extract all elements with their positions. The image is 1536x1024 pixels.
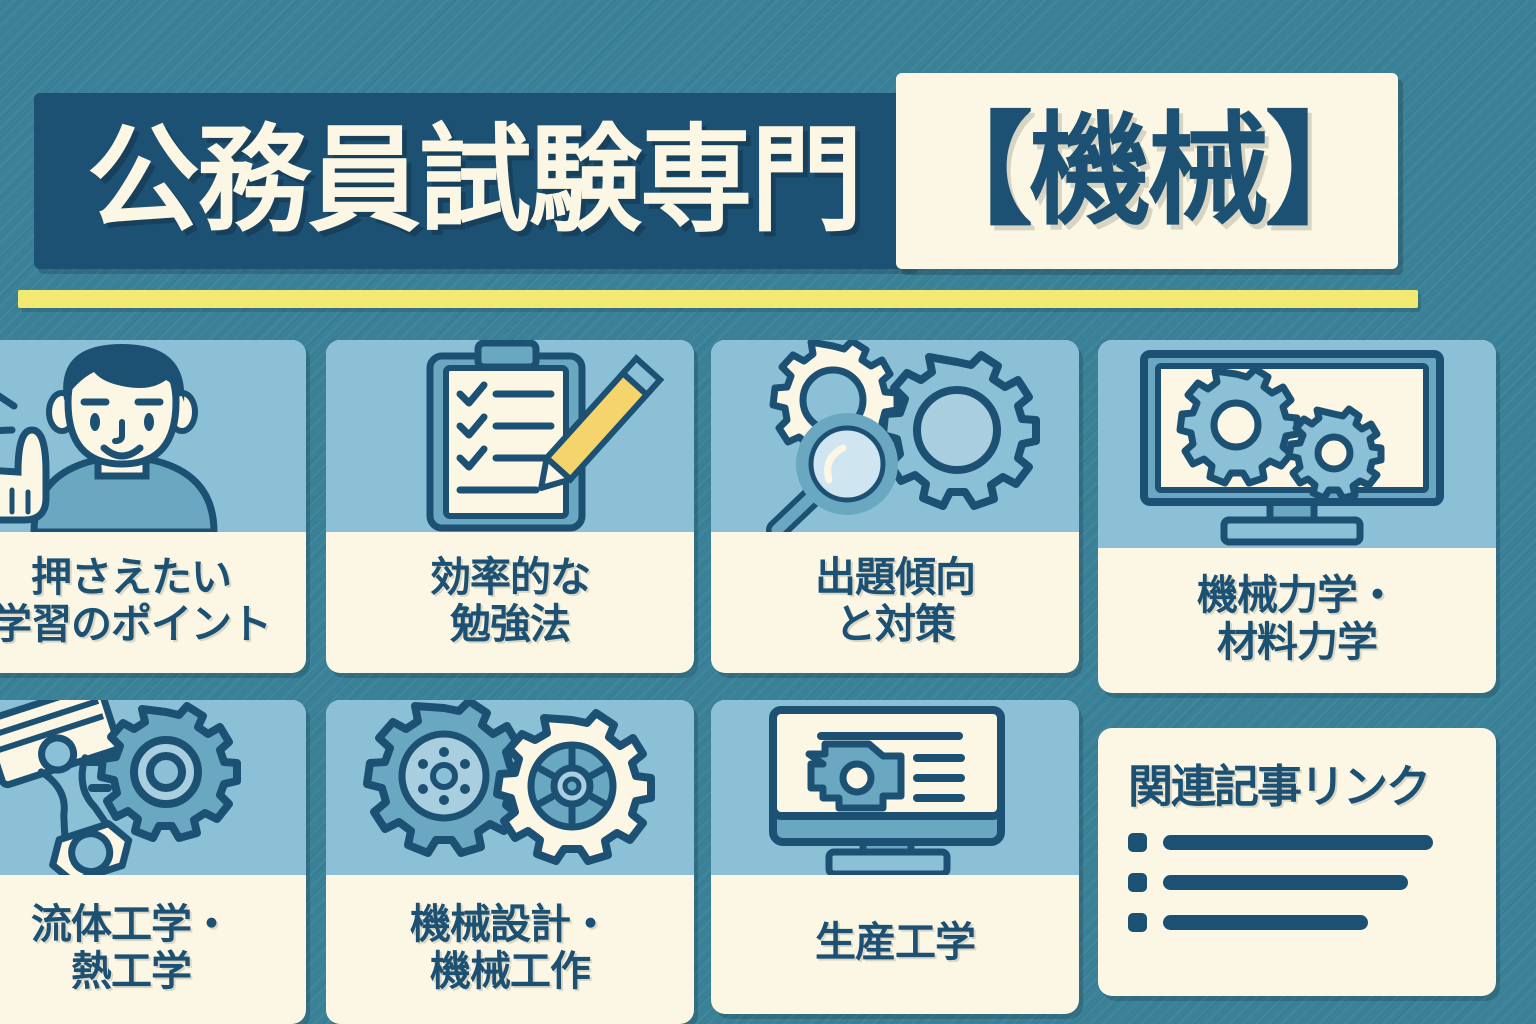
bullet-icon	[1128, 913, 1147, 932]
card-label-line: 勉強法	[450, 601, 570, 648]
card-study-method[interactable]: 効率的な 勉強法	[326, 340, 694, 673]
clipboard-checklist-pencil-icon	[326, 340, 694, 532]
card-label-line: 学習のポイント	[0, 601, 271, 648]
bullet-icon	[1128, 873, 1147, 892]
magnifier-gears-icon	[711, 340, 1079, 532]
card-study-points-label: 押さえたい 学習のポイント	[0, 532, 306, 673]
card-fluid-thermal[interactable]: 流体工学・ 熱工学	[0, 700, 306, 1024]
page-title-banner: 公務員試験専門	[34, 93, 914, 269]
page-title: 公務員試験専門	[87, 123, 861, 239]
accent-divider	[18, 290, 1418, 308]
card-exam-trends-label: 出題傾向 と対策	[711, 532, 1079, 673]
card-related-links[interactable]: 関連記事リンク	[1098, 728, 1496, 996]
list-item[interactable]	[1128, 873, 1470, 892]
card-label-line: 流体工学・	[31, 901, 231, 948]
card-mechanics-label: 機械力学・ 材料力学	[1098, 548, 1496, 693]
card-exam-trends[interactable]: 出題傾向 と対策	[711, 340, 1079, 673]
card-study-points[interactable]: 押さえたい 学習のポイント	[0, 340, 306, 673]
card-production-engineering[interactable]: 生産工学	[711, 700, 1079, 1014]
card-label-line: 押さえたい	[31, 554, 231, 601]
link-placeholder-bar	[1163, 835, 1433, 850]
card-fluid-thermal-label: 流体工学・ 熱工学	[0, 875, 306, 1024]
link-placeholder-bar	[1163, 915, 1368, 930]
card-production-engineering-label: 生産工学	[711, 875, 1079, 1014]
card-mechanics[interactable]: 機械力学・ 材料力学	[1098, 340, 1496, 693]
bullet-icon	[1128, 833, 1147, 852]
list-item[interactable]	[1128, 913, 1470, 932]
monitor-gears-icon	[1098, 340, 1496, 548]
card-study-method-label: 効率的な 勉強法	[326, 532, 694, 673]
monitor-cad-part-icon	[711, 700, 1079, 875]
card-label-line: 熱工学	[71, 948, 191, 995]
card-label-line: 材料力学	[1217, 619, 1377, 666]
two-gears-icon	[326, 700, 694, 875]
link-placeholder-bar	[1163, 875, 1408, 890]
subject-label: 【機械】	[911, 110, 1383, 232]
card-label-line: と対策	[835, 601, 955, 648]
pointing-person-icon	[0, 340, 306, 532]
piston-gear-icon	[0, 700, 306, 875]
list-item[interactable]	[1128, 833, 1470, 852]
card-label-line: 機械設計・	[410, 901, 610, 948]
card-label-line: 出題傾向	[815, 554, 975, 601]
card-machine-design[interactable]: 機械設計・ 機械工作	[326, 700, 694, 1024]
card-label-line: 機械工作	[430, 948, 590, 995]
card-label-line: 効率的な	[430, 554, 590, 601]
subject-badge: 【機械】	[896, 73, 1398, 269]
related-links-title: 関連記事リンク	[1128, 750, 1470, 815]
card-machine-design-label: 機械設計・ 機械工作	[326, 875, 694, 1024]
card-label-line: 機械力学・	[1197, 572, 1397, 619]
card-label-line: 生産工学	[815, 919, 975, 966]
